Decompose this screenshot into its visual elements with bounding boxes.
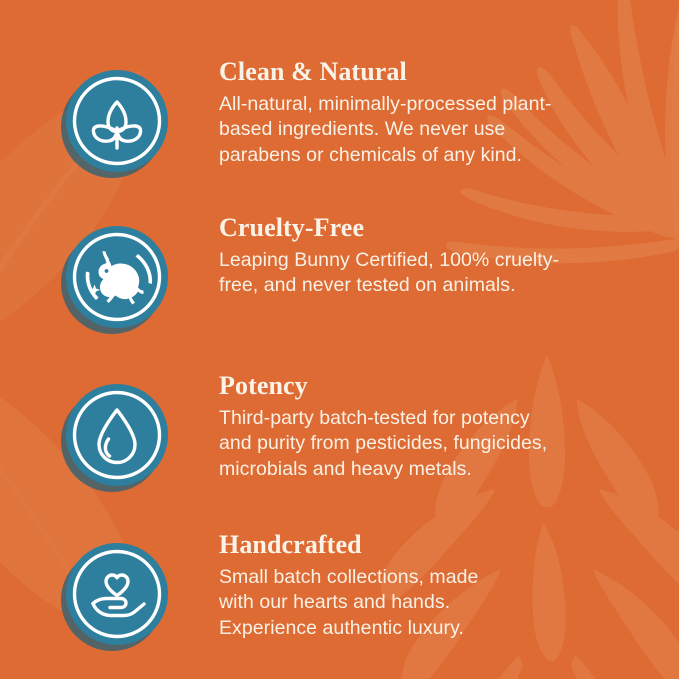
feature-item-cruelty-free: Cruelty-Free Leaping Bunny Certified, 10… (0, 212, 679, 334)
desc-line: All-natural, minimally-processed plant- (219, 92, 552, 118)
badge-circle (66, 226, 168, 328)
feature-item-potency: Potency Third-party batch-tested for pot… (0, 370, 679, 492)
water-droplet-icon (66, 384, 168, 486)
desc-line: with our hearts and hands. (219, 590, 478, 616)
desc-line: free, and never tested on animals. (219, 273, 559, 299)
desc-line: Small batch collections, made (219, 565, 478, 591)
badge-circle (66, 70, 168, 172)
feature-rows: Clean & Natural All-natural, minimally-p… (0, 0, 679, 651)
feature-icon-badge (58, 539, 174, 651)
desc-line: Experience authentic luxury. (219, 616, 478, 642)
feature-title: Cruelty-Free (219, 214, 559, 242)
hand-holding-heart-icon (66, 543, 168, 645)
badge-circle (66, 543, 168, 645)
feature-description: Leaping Bunny Certified, 100% cruelty- f… (219, 248, 559, 300)
feature-icon-badge (58, 222, 174, 334)
feature-item-handcrafted: Handcrafted Small batch collections, mad… (0, 529, 679, 651)
desc-line: based ingredients. We never use (219, 117, 552, 143)
badge-circle (66, 384, 168, 486)
feature-text-block: Handcrafted Small batch collections, mad… (174, 529, 478, 642)
feature-title: Potency (219, 372, 547, 400)
desc-line: parabens or chemicals of any kind. (219, 143, 552, 169)
desc-line: Leaping Bunny Certified, 100% cruelty- (219, 248, 559, 274)
desc-line: Third-party batch-tested for potency (219, 406, 547, 432)
feature-text-block: Clean & Natural All-natural, minimally-p… (174, 56, 552, 169)
plant-sprout-icon (66, 70, 168, 172)
feature-list-panel: Clean & Natural All-natural, minimally-p… (0, 0, 679, 679)
feature-title: Clean & Natural (219, 58, 552, 86)
feature-description: All-natural, minimally-processed plant- … (219, 92, 552, 170)
feature-icon-badge (58, 380, 174, 492)
feature-title: Handcrafted (219, 531, 478, 559)
feature-text-block: Potency Third-party batch-tested for pot… (174, 370, 547, 483)
desc-line: and purity from pesticides, fungicides, (219, 431, 547, 457)
desc-line: microbials and heavy metals. (219, 457, 547, 483)
feature-description: Third-party batch-tested for potency and… (219, 406, 547, 484)
feature-description: Small batch collections, made with our h… (219, 565, 478, 643)
leaping-bunny-icon (66, 226, 168, 328)
feature-item-clean-natural: Clean & Natural All-natural, minimally-p… (0, 56, 679, 178)
feature-text-block: Cruelty-Free Leaping Bunny Certified, 10… (174, 212, 559, 299)
feature-icon-badge (58, 66, 174, 178)
